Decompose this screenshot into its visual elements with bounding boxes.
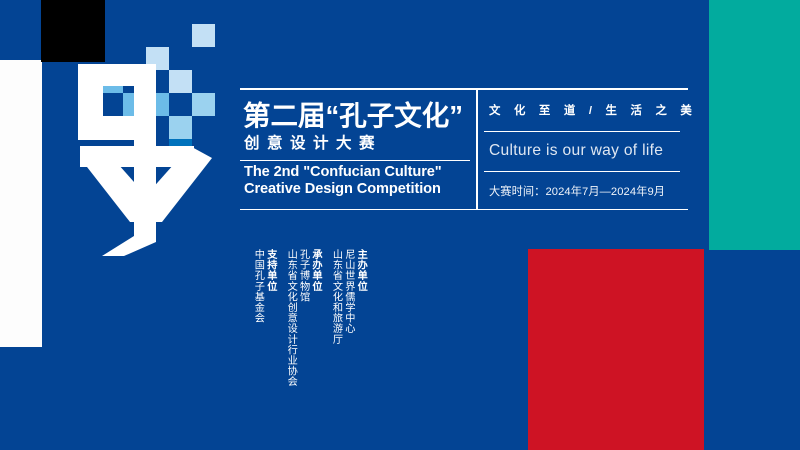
competition-date: 大赛时间：2024年7月—2024年9月 [484, 171, 688, 210]
teal-accent-block [709, 0, 800, 250]
tagline-rule-2 [484, 171, 680, 172]
white-strip-block [0, 60, 42, 347]
credit-group-label: 支持单位 [264, 249, 274, 291]
title-english-line1: The 2nd "Confucian Culture" [244, 164, 470, 182]
confucius-culture-logo-icon [78, 24, 238, 256]
tagline-column: 文 化 至 道 / 生 活 之 美 Culture is our way of … [484, 88, 688, 210]
tagline-english: Culture is our way of life [484, 131, 688, 171]
tagline-rule-1 [484, 131, 680, 132]
credit-item: 尼山世界儒学中心 [342, 249, 352, 334]
title-chinese-main: 第二届“孔子文化” [243, 101, 470, 132]
credit-group: 支持单位中国孔子基金会 [252, 249, 275, 323]
credit-item: 中国孔子基金会 [252, 249, 262, 323]
credit-item: 山东省文化创意设计行业协会 [285, 249, 295, 387]
title-english: The 2nd "Confucian Culture" Creative Des… [244, 164, 470, 200]
credit-group: 主办单位尼山世界儒学中心山东省文化和旅游厅 [330, 249, 365, 344]
credit-group-label: 主办单位 [355, 249, 365, 291]
lockup-vertical-divider [476, 88, 478, 210]
title-rule-middle [240, 160, 470, 161]
tagline-chinese: 文 化 至 道 / 生 活 之 美 [484, 88, 688, 131]
poster-canvas: 第二届“孔子文化” 创意设计大赛 The 2nd "Confucian Cult… [0, 0, 800, 450]
title-english-line2: Creative Design Competition [244, 181, 470, 199]
credit-item: 孔子博物馆 [297, 249, 307, 302]
credit-group: 承办单位孔子博物馆山东省文化创意设计行业协会 [285, 249, 320, 387]
title-column: 第二届“孔子文化” 创意设计大赛 The 2nd "Confucian Cult… [240, 88, 470, 210]
red-accent-block [528, 249, 704, 450]
title-chinese-sub: 创意设计大赛 [244, 134, 470, 155]
credit-item: 山东省文化和旅游厅 [330, 249, 340, 344]
title-lockup: 第二届“孔子文化” 创意设计大赛 The 2nd "Confucian Cult… [240, 88, 688, 210]
credit-group-label: 承办单位 [310, 249, 320, 291]
credits-block: 主办单位尼山世界儒学中心山东省文化和旅游厅承办单位孔子博物馆山东省文化创意设计行… [252, 249, 365, 384]
